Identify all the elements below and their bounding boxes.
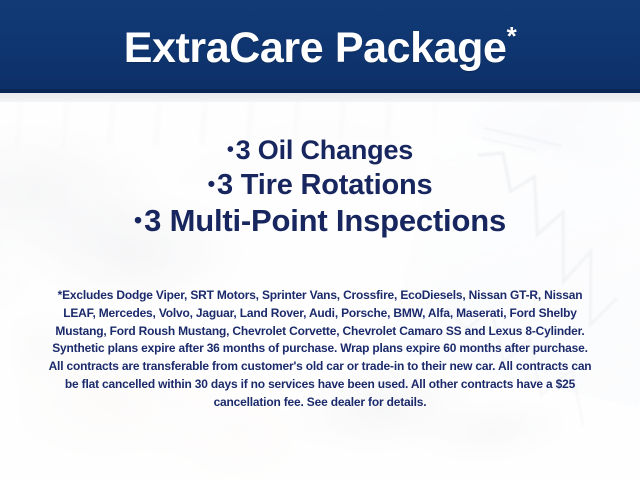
bullet-icon: • (208, 172, 215, 196)
list-item: •3 Oil Changes (0, 136, 640, 165)
page-title-text: ExtraCare Package (124, 24, 507, 72)
list-item-label: 3 Multi-Point Inspections (144, 203, 506, 238)
list-item: •3 Tire Rotations (0, 170, 640, 201)
benefits-list: •3 Oil Changes •3 Tire Rotations •3 Mult… (0, 136, 640, 238)
bullet-icon: • (134, 207, 142, 233)
disclaimer-text: *Excludes Dodge Viper, SRT Motors, Sprin… (44, 287, 596, 412)
extracare-promo-card: ExtraCare Package* •3 Oil Changes •3 Tir… (0, 0, 640, 480)
list-item-label: 3 Tire Rotations (217, 169, 432, 201)
bullet-icon: • (227, 139, 234, 161)
page-title: ExtraCare Package* (124, 23, 517, 70)
header-underline-band (0, 93, 640, 102)
page-title-asterisk: * (507, 21, 517, 51)
header-band: ExtraCare Package* (0, 0, 640, 93)
list-item: •3 Multi-Point Inspections (0, 205, 640, 238)
list-item-label: 3 Oil Changes (236, 135, 413, 165)
